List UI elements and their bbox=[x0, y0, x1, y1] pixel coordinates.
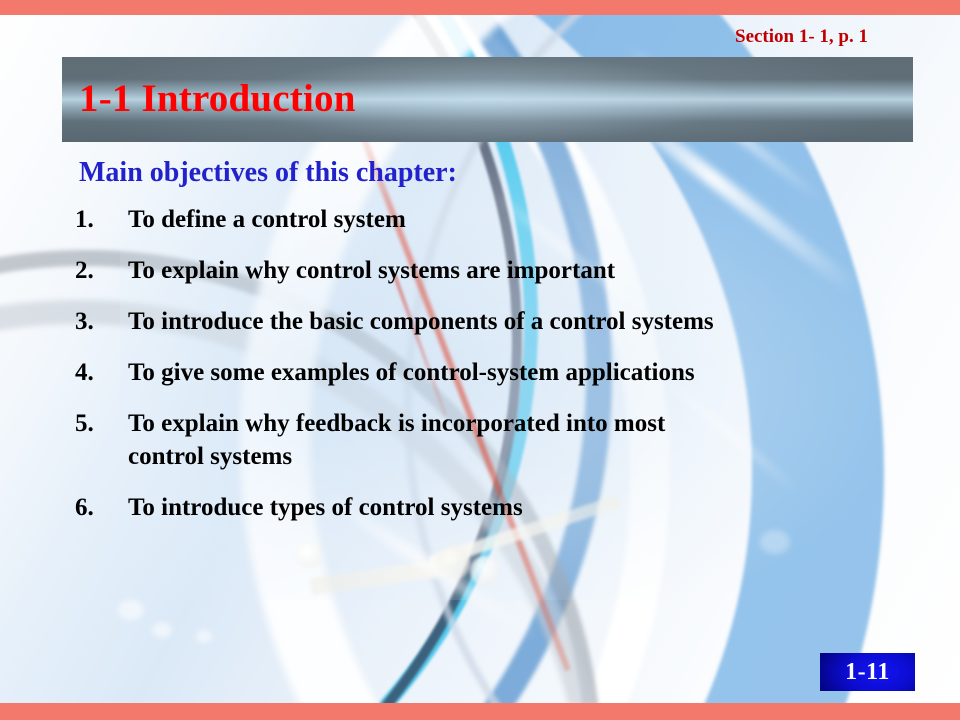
list-item-text: To define a control system bbox=[128, 203, 920, 236]
list-item-number: 4. bbox=[70, 356, 128, 389]
list-item: 4. To give some examples of control-syst… bbox=[70, 356, 920, 389]
presentation-slide: Section 1- 1, p. 1 1-1 Introduction Main… bbox=[0, 0, 960, 720]
list-item-text: To introduce the basic components of a c… bbox=[128, 305, 920, 338]
objectives-list: 1. To define a control system 2. To expl… bbox=[70, 203, 920, 542]
list-item: 1. To define a control system bbox=[70, 203, 920, 236]
list-item-text: To explain why feedback is incorporated … bbox=[128, 407, 920, 473]
list-item-number: 1. bbox=[70, 203, 128, 236]
list-item-number: 3. bbox=[70, 305, 128, 338]
objectives-subtitle: Main objectives of this chapter: bbox=[79, 157, 457, 189]
bottom-accent-bar bbox=[0, 703, 960, 720]
page-number-text: 1-11 bbox=[845, 659, 890, 686]
page-number-badge: 1-11 bbox=[820, 653, 915, 691]
list-item-number: 2. bbox=[70, 254, 128, 287]
list-item-text: To introduce types of control systems bbox=[128, 491, 920, 524]
list-item: 6. To introduce types of control systems bbox=[70, 491, 920, 524]
list-item: 3. To introduce the basic components of … bbox=[70, 305, 920, 338]
top-accent-bar bbox=[0, 0, 960, 15]
list-item-text: To explain why control systems are impor… bbox=[128, 254, 920, 287]
section-reference-label: Section 1- 1, p. 1 bbox=[735, 26, 868, 48]
list-item-number: 6. bbox=[70, 491, 128, 524]
list-item-text: To give some examples of control-system … bbox=[128, 356, 920, 389]
list-item-number: 5. bbox=[70, 407, 128, 440]
list-item: 2. To explain why control systems are im… bbox=[70, 254, 920, 287]
list-item: 5. To explain why feedback is incorporat… bbox=[70, 407, 920, 473]
slide-content: Main objectives of this chapter: 1. To d… bbox=[0, 0, 960, 720]
